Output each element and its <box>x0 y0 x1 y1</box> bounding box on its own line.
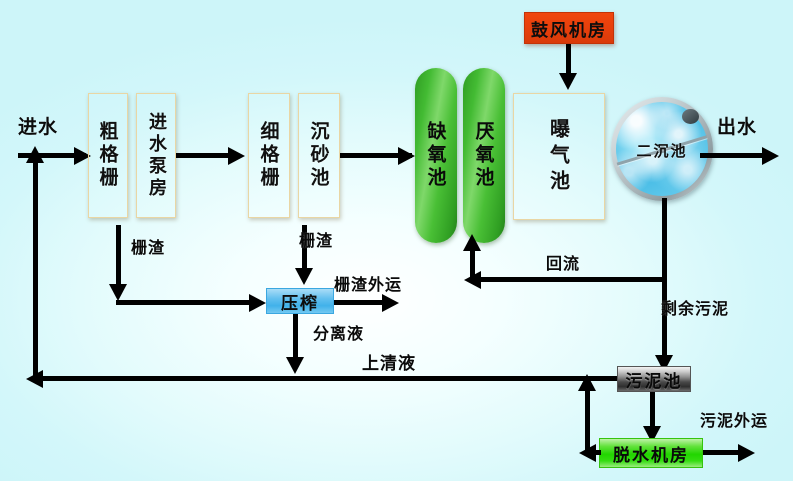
flow-label-screenings-hauled: 栅渣外运 <box>334 277 402 293</box>
unit-anoxic-tank[interactable]: 缺氧池 <box>415 68 457 243</box>
flow-label-excess-sludge: 剩余污泥 <box>661 301 729 317</box>
unit-anaerobic-tank-label: 厌氧池 <box>471 121 498 190</box>
unit-fine-screen[interactable]: 细格栅 <box>248 93 290 218</box>
unit-secondary-clarifier-label: 二沉池 <box>611 140 713 161</box>
separated-liquid-arrowhead <box>286 357 304 374</box>
coarse-screenings-line <box>116 225 121 288</box>
unit-blower-room-label: 鼓风机房 <box>531 16 607 41</box>
flow-label-return-sludge: 回流 <box>546 256 580 272</box>
dewater-filtrate-riser-arrowhead <box>578 374 596 391</box>
unit-grit-chamber-label: 沉砂池 <box>306 121 333 190</box>
unit-press[interactable]: 压榨 <box>266 288 334 314</box>
unit-aeration-tank[interactable]: 曝气池 <box>513 93 605 220</box>
flow-label-screenings-coarse: 栅渣 <box>131 240 165 256</box>
unit-coarse-screen-label: 粗格栅 <box>95 121 122 190</box>
unit-anoxic-tank-label: 缺氧池 <box>423 121 450 190</box>
sludgetank-to-dewater-line <box>650 392 655 430</box>
flow-label-influent: 进水 <box>18 118 58 137</box>
effluent-line <box>700 153 770 158</box>
unit-grit-chamber[interactable]: 沉砂池 <box>298 93 340 218</box>
return-sludge-riser-line <box>470 248 475 280</box>
unit-press-label: 压榨 <box>281 289 319 314</box>
unit-blower-room[interactable]: 鼓风机房 <box>524 12 614 44</box>
effluent-arrowhead <box>762 147 779 165</box>
unit-sludge-tank-label: 污泥池 <box>626 367 683 392</box>
screenings-hauled-line <box>334 300 389 305</box>
supernatant-riser-arrowhead <box>26 146 44 163</box>
process-flow-diagram: 进水 粗格栅 进水泵房 栅渣 细格栅 沉砂池 栅渣 压榨 栅渣外运 分离液 <box>0 0 793 481</box>
pumphouse-to-finescreen-line <box>176 153 236 158</box>
flow-label-effluent: 出水 <box>717 118 757 137</box>
coarse-screenings-arrowhead <box>109 284 127 301</box>
clarifier-downcomer-line <box>662 198 667 280</box>
separated-liquid-line <box>293 314 298 361</box>
flow-label-separated-liquid: 分离液 <box>313 326 364 342</box>
supernatant-line <box>33 376 617 381</box>
dewater-filtrate-riser-line <box>585 385 590 453</box>
unit-anaerobic-tank[interactable]: 厌氧池 <box>463 68 505 243</box>
excess-sludge-line <box>662 277 667 359</box>
fine-screenings-arrowhead <box>295 268 313 285</box>
coarse-screenings-to-press-line <box>116 300 256 305</box>
pumphouse-to-finescreen-arrowhead <box>228 147 245 165</box>
screenings-hauled-arrowhead <box>382 294 399 312</box>
unit-dewatering-room-label: 脱水机房 <box>613 441 689 466</box>
unit-aeration-tank-label: 曝气池 <box>545 118 574 196</box>
return-sludge-riser-arrowhead <box>463 234 481 251</box>
unit-dewatering-room[interactable]: 脱水机房 <box>599 438 703 468</box>
blower-to-aeration-arrowhead <box>559 73 577 90</box>
flow-label-sludge-hauled: 污泥外运 <box>700 413 768 429</box>
unit-inlet-pump-house-label: 进水泵房 <box>143 112 169 200</box>
unit-sludge-tank[interactable]: 污泥池 <box>617 366 691 392</box>
flow-label-supernatant: 上清液 <box>362 356 416 373</box>
unit-fine-screen-label: 细格栅 <box>256 121 283 190</box>
unit-coarse-screen[interactable]: 粗格栅 <box>88 93 128 218</box>
supernatant-riser-line <box>33 160 38 378</box>
sludge-hauled-arrowhead <box>738 444 755 462</box>
grit-to-anoxic-arrowhead <box>398 147 415 165</box>
return-sludge-line <box>473 277 665 282</box>
supernatant-arrowhead <box>26 370 43 388</box>
unit-secondary-clarifier[interactable]: 二沉池 <box>611 97 713 201</box>
coarse-screenings-to-press-arrowhead <box>249 294 266 312</box>
unit-inlet-pump-house[interactable]: 进水泵房 <box>136 93 176 218</box>
flow-label-screenings-fine: 栅渣 <box>299 233 333 249</box>
